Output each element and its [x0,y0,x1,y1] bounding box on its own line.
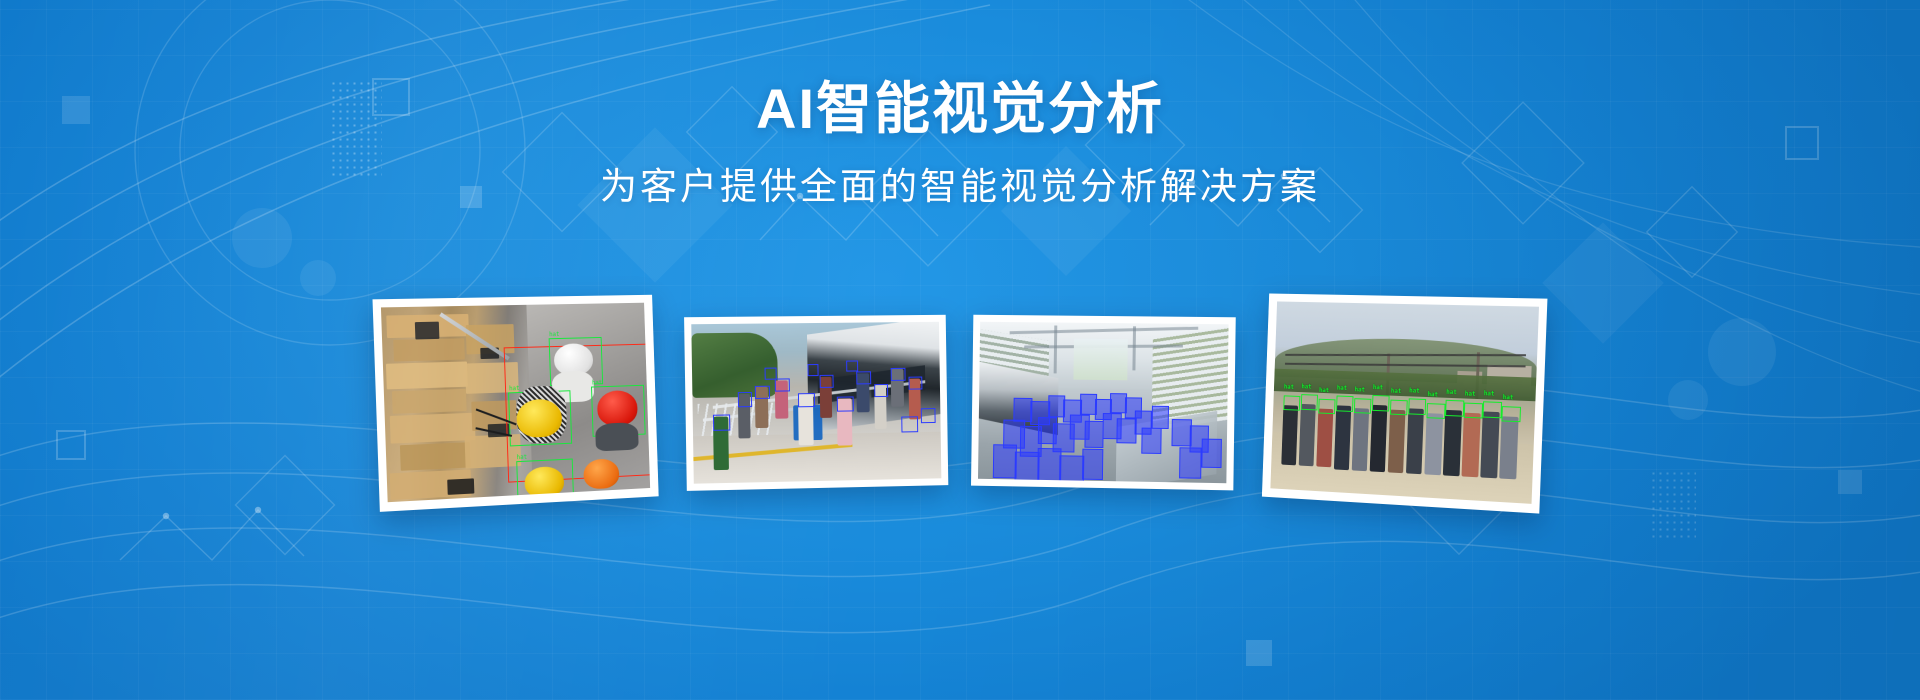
detection-label: hat [1355,386,1365,393]
face-detection-box [820,375,835,388]
worker [1281,404,1298,465]
face-detection-box [908,377,922,390]
worker [1425,412,1443,475]
gallery-card-3-image [978,322,1229,483]
detection-label: hat [1337,384,1347,391]
face-detection-box [775,379,790,392]
face-detection-box [857,371,871,384]
detection-label: hat [549,330,560,339]
dark-equipment [414,321,439,339]
person-detection-box [1037,448,1062,482]
helmet-detection-box [1464,402,1483,418]
helmet-detection-box [1483,401,1502,417]
helmet-detection-box [1283,395,1300,411]
face-detection-box [755,385,770,398]
hero-banner: AI智能视觉分析 为客户提供全面的智能视觉分析解决方案 [0,0,1920,700]
person-detection-box [1152,406,1169,429]
helmet-detection-box [1445,399,1464,415]
gallery-card-warehouse-helmet-detection[interactable]: hat hat hat [372,294,658,511]
gallery-card-1-image: hat hat hat [381,302,650,501]
detection-label: hat [1319,387,1329,394]
worker [1299,403,1316,466]
yellow-helmet-2 [524,466,564,498]
worker [1481,411,1500,478]
person-detection-box [1142,428,1162,454]
detection-label: hat [1284,384,1294,391]
train-platform-photo [691,322,941,484]
gallery-card-station-crowd-detection[interactable] [971,315,1236,491]
outdoor-group-photo: hat hat hat hat hat hat hat hat [1270,301,1539,503]
helmet-detection-box [1408,398,1426,414]
cardboard-box [399,442,470,470]
face-detection-box [798,393,815,408]
warehouse-overhead-photo: hat hat hat [381,302,650,501]
detection-label: hat [1301,382,1311,389]
face-detection-box [891,368,905,381]
face-detection-box [807,364,819,376]
face-detection-box [713,415,730,432]
detection-label: hat [1409,386,1420,393]
hero-headings: AI智能视觉分析 为客户提供全面的智能视觉分析解决方案 [0,78,1920,209]
daylight-opening [1073,338,1128,380]
gallery-card-train-platform-face-detection[interactable] [684,315,948,491]
worker [1370,404,1388,472]
worker [1334,405,1352,470]
roof-beam [1133,326,1137,370]
worker [1316,408,1333,467]
detection-label: hat [516,452,527,461]
worker [1443,409,1461,476]
face-detection-box [847,360,859,372]
red-helmet [596,390,638,427]
face-detection-box [837,397,854,412]
cardboard-box [393,338,464,361]
face-detection-box [901,416,918,432]
person-detection-box [1059,455,1084,483]
deco-square-6 [1246,640,1272,666]
helmet-detection-box [1354,398,1372,414]
person-detection-box [1125,398,1142,419]
detection-label: hat [509,384,520,393]
gallery-card-4-image: hat hat hat hat hat hat hat hat [1270,301,1539,503]
gallery-card-2-image [691,322,941,484]
cardboard-box [386,361,468,389]
detection-showcase-gallery: hat hat hat [0,255,1920,545]
page-subtitle: 为客户提供全面的智能视觉分析解决方案 [0,165,1920,209]
dark-equipment [447,478,474,495]
face-detection-box [738,392,753,407]
worker [1388,409,1406,473]
helmet-detection-box [1390,399,1408,415]
detection-label: hat [1446,388,1457,395]
cardboard-box [390,413,475,443]
white-helmet [554,343,594,376]
helmet-detection-box [1301,394,1318,410]
roof-beam [1053,326,1057,373]
face-detection-box [765,368,777,380]
helmet-detection-box [1318,398,1336,414]
detection-label: hat [1391,388,1402,395]
helmet-detection-box [1372,395,1390,411]
station-hall-photo [978,322,1229,483]
yellow-helmet [516,398,562,438]
power-line [1285,353,1526,355]
cardboard-box [392,388,466,414]
helmet-detection-box [1427,402,1445,418]
person-detection-box [1082,449,1104,480]
person-detection-box [1015,451,1040,482]
face-detection-box [874,384,888,397]
worker [1406,408,1424,474]
person-detection-box [1179,447,1201,478]
person-detection-box [993,444,1018,478]
detection-label: hat [1427,391,1438,398]
helmet-detection-box [1502,406,1521,423]
detection-label: hat [1502,394,1513,402]
person-body [595,421,639,451]
worker [1500,415,1519,479]
detection-label: hat [592,377,602,386]
person-detection-box [1201,438,1221,467]
detection-label: hat [1465,390,1476,398]
detection-label: hat [1373,383,1384,390]
face-detection-box [921,408,935,423]
page-title: AI智能视觉分析 [0,78,1920,141]
worker [1462,412,1481,477]
detection-label: hat [1484,389,1495,397]
helmet-detection-box [1336,395,1354,411]
worker [1352,407,1370,471]
gallery-card-outdoor-group-helmet-detection[interactable]: hat hat hat hat hat hat hat hat [1262,293,1548,513]
